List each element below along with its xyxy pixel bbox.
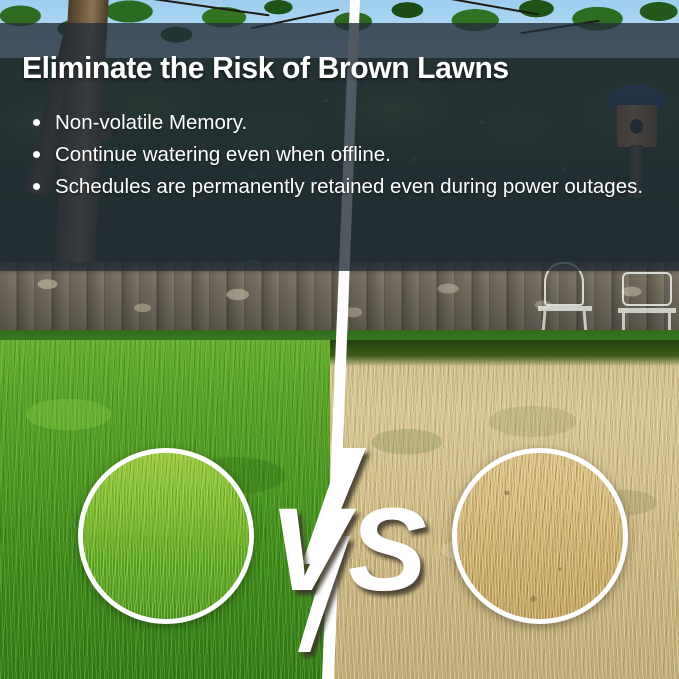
list-item: Schedules are permanently retained even …	[28, 172, 658, 201]
list-item: Continue watering even when offline.	[28, 140, 658, 169]
brown-lawn-closeup-circle	[452, 448, 628, 624]
brown-lawn-closeup-fill	[457, 453, 623, 619]
vs-label: VS	[269, 484, 426, 616]
healthy-lawn-closeup-circle	[78, 448, 254, 624]
healthy-lawn-closeup-fill	[83, 453, 249, 619]
feature-list: Non-volatile Memory. Continue watering e…	[28, 108, 658, 204]
vs-badge: VS	[238, 440, 458, 660]
brown-lawn-far-edge	[330, 340, 679, 366]
list-item: Non-volatile Memory.	[28, 108, 658, 137]
page-title: Eliminate the Risk of Brown Lawns	[22, 50, 643, 86]
promo-banner: VS Eliminate the Risk of Brown Lawns Non…	[0, 0, 679, 679]
chair-backrest	[622, 272, 672, 306]
